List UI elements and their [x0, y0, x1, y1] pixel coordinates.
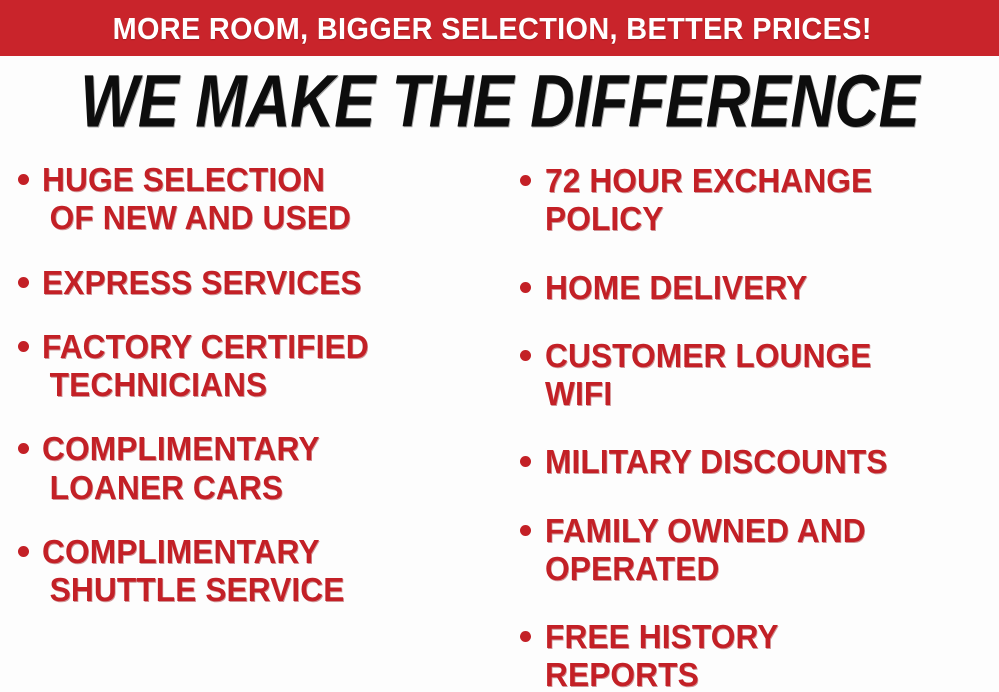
bullet-dot-icon — [520, 175, 531, 186]
bullet-dot-icon — [18, 174, 29, 185]
list-item: HOME DELIVERY — [520, 269, 999, 307]
bullet-dot-icon — [18, 341, 29, 352]
list-item: FAMILY OWNED AND OPERATED — [520, 512, 999, 589]
feature-text: HUGE SELECTION OF NEW AND USED — [42, 161, 351, 238]
bullet-dot-icon — [520, 350, 531, 361]
feature-line-2: POLICY — [545, 200, 872, 238]
feature-text: COMPLIMENTARY LOANER CARS — [42, 430, 320, 507]
feature-line-1: COMPLIMENTARY — [42, 430, 320, 467]
feature-line-2: OF NEW AND USED — [42, 199, 351, 237]
feature-line-2: LOANER CARS — [42, 469, 320, 507]
promo-strip-inner: MORE ROOM, BIGGER SELECTION, BETTER PRIC… — [0, 13, 999, 44]
list-item: COMPLIMENTARY LOANER CARS — [18, 430, 500, 507]
feature-text: FREE HISTORY REPORTS — [545, 618, 779, 692]
feature-line-1: COMPLIMENTARY — [42, 533, 320, 570]
feature-line-2: WIFI — [545, 375, 871, 413]
bullet-dot-icon — [18, 443, 29, 454]
list-item: HUGE SELECTION OF NEW AND USED — [18, 161, 500, 238]
feature-text: COMPLIMENTARY SHUTTLE SERVICE — [42, 533, 345, 610]
bullet-dot-icon — [520, 525, 531, 536]
bullet-dot-icon — [520, 631, 531, 642]
feature-text: HOME DELIVERY — [545, 269, 807, 307]
promo-strip-text: MORE ROOM, BIGGER SELECTION, BETTER PRIC… — [113, 13, 872, 44]
bullet-dot-icon — [520, 456, 531, 467]
feature-line-1: FREE HISTORY — [545, 618, 779, 655]
bullet-dot-icon — [18, 546, 29, 557]
feature-line-1: HUGE SELECTION — [42, 161, 325, 198]
feature-text: 72 HOUR EXCHANGE POLICY — [545, 162, 872, 239]
feature-text: CUSTOMER LOUNGE WIFI — [545, 337, 871, 414]
list-item: 72 HOUR EXCHANGE POLICY — [520, 162, 999, 239]
list-item: FREE HISTORY REPORTS — [520, 618, 999, 692]
feature-line-2: TECHNICIANS — [42, 366, 369, 404]
bullet-dot-icon — [520, 282, 531, 293]
list-item: FACTORY CERTIFIED TECHNICIANS — [18, 328, 500, 405]
feature-line-1: HOME DELIVERY — [545, 269, 807, 306]
bullet-dot-icon — [18, 277, 29, 288]
feature-line-1: EXPRESS SERVICES — [42, 264, 362, 301]
feature-line-1: FACTORY CERTIFIED — [42, 328, 369, 365]
feature-text: MILITARY DISCOUNTS — [545, 443, 888, 481]
promo-banner: MORE ROOM, BIGGER SELECTION, BETTER PRIC… — [0, 0, 999, 692]
list-item: COMPLIMENTARY SHUTTLE SERVICE — [18, 533, 500, 610]
feature-column-left: HUGE SELECTION OF NEW AND USED EXPRESS S… — [0, 150, 500, 635]
page-title: WE MAKE THE DIFFERENCE — [80, 64, 919, 138]
feature-line-1: FAMILY OWNED AND — [545, 512, 866, 549]
promo-strip: MORE ROOM, BIGGER SELECTION, BETTER PRIC… — [0, 0, 999, 56]
list-item: EXPRESS SERVICES — [18, 264, 500, 302]
list-item: MILITARY DISCOUNTS — [520, 443, 999, 481]
feature-line-1: 72 HOUR EXCHANGE — [545, 162, 872, 199]
list-item: CUSTOMER LOUNGE WIFI — [520, 337, 999, 414]
feature-text: FAMILY OWNED AND OPERATED — [545, 512, 866, 589]
feature-line-2: SHUTTLE SERVICE — [42, 571, 345, 609]
feature-line-2: OPERATED — [545, 550, 866, 588]
feature-line-1: CUSTOMER LOUNGE — [545, 337, 871, 374]
features-columns: HUGE SELECTION OF NEW AND USED EXPRESS S… — [0, 150, 999, 692]
feature-text: FACTORY CERTIFIED TECHNICIANS — [42, 328, 369, 405]
feature-line-2: REPORTS — [545, 656, 779, 692]
feature-column-right: 72 HOUR EXCHANGE POLICY HOME DELIVERY CU… — [500, 150, 999, 692]
feature-text: EXPRESS SERVICES — [42, 264, 362, 302]
headline-container: WE MAKE THE DIFFERENCE — [0, 62, 999, 140]
feature-line-1: MILITARY DISCOUNTS — [545, 443, 888, 480]
